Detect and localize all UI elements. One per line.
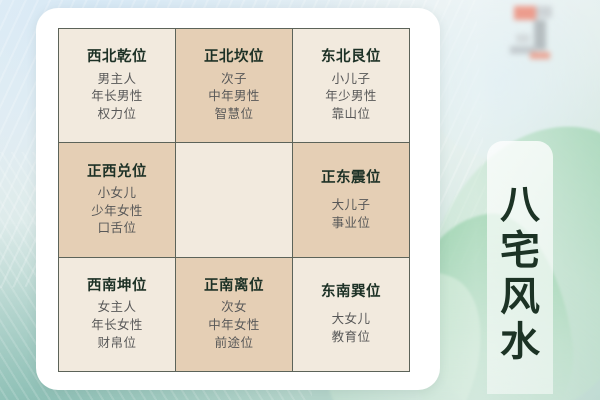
grid-cell-northeast-gen: 东北艮位小儿子年少男性靠山位 [293,29,409,142]
grid-cell-northwest-qian: 西北乾位男主人年长男性权力位 [59,29,175,142]
cell-line-south-li-2: 中年女性 [208,316,260,334]
cell-line-northeast-gen-2: 年少男性 [325,87,377,105]
title-char-1: 八 [500,185,540,227]
cell-title-west-dui: 正西兑位 [87,163,147,181]
cell-line-east-zhen-1: 大儿子 [332,196,371,214]
cell-line-west-dui-1: 小女儿 [98,184,137,202]
vertical-title-panel: 八 宅 风 水 [487,141,553,394]
grid-cell-north-kan: 正北坎位次子中年男性智慧位 [176,29,292,142]
title-char-4: 水 [500,322,540,364]
cell-line-south-li-3: 前途位 [215,334,254,352]
cell-line-east-zhen-2: 事业位 [332,214,371,232]
cell-line-northwest-qian-1: 男主人 [98,70,137,88]
blurred-logo-watermark [508,4,568,62]
watermark-block-1 [514,6,536,20]
cell-line-northeast-gen-3: 靠山位 [332,105,371,123]
grid-cell-east-zhen: 正东震位大儿子事业位 [293,143,409,256]
cell-title-northeast-gen: 东北艮位 [321,48,381,66]
cell-line-southwest-kun-2: 年长女性 [91,316,143,334]
watermark-block-4 [516,34,530,43]
cell-title-south-li: 正南离位 [204,277,264,295]
cell-line-north-kan-1: 次子 [221,70,247,88]
cell-line-northwest-qian-3: 权力位 [98,105,137,123]
watermark-block-2 [536,6,552,18]
cell-line-southwest-kun-1: 女主人 [98,298,137,316]
grid-cell-west-dui: 正西兑位小女儿少年女性口舌位 [59,143,175,256]
grid-cell-center-empty [176,143,292,256]
grid-cell-southeast-xun: 东南巽位大女儿教育位 [293,258,409,371]
grid-cell-south-li: 正南离位次女中年女性前途位 [176,258,292,371]
bagua-eight-house-grid: 西北乾位男主人年长男性权力位正北坎位次子中年男性智慧位东北艮位小儿子年少男性靠山… [58,28,410,372]
cell-title-north-kan: 正北坎位 [204,48,264,66]
cell-line-southeast-xun-1: 大女儿 [332,310,371,328]
cell-line-southeast-xun-2: 教育位 [332,328,371,346]
cell-title-northwest-qian: 西北乾位 [87,48,147,66]
cell-line-west-dui-2: 少年女性 [91,202,143,220]
cell-title-east-zhen: 正东震位 [321,169,381,187]
cell-line-west-dui-3: 口舌位 [98,219,137,237]
cell-line-north-kan-3: 智慧位 [215,105,254,123]
cell-line-south-li-1: 次女 [221,298,247,316]
cell-title-southeast-xun: 东南巽位 [321,283,381,301]
title-char-3: 风 [500,277,540,319]
cell-line-north-kan-2: 中年男性 [208,87,260,105]
grid-cell-southwest-kun: 西南坤位女主人年长女性财帛位 [59,258,175,371]
cell-title-southwest-kun: 西南坤位 [87,277,147,295]
poster-canvas: 西北乾位男主人年长男性权力位正北坎位次子中年男性智慧位东北艮位小儿子年少男性靠山… [0,0,600,400]
cell-line-southwest-kun-3: 财帛位 [98,334,137,352]
cell-line-northeast-gen-1: 小儿子 [332,70,371,88]
cell-line-northwest-qian-2: 年长男性 [91,87,143,105]
watermark-block-6 [530,52,550,59]
title-char-2: 宅 [500,231,540,273]
